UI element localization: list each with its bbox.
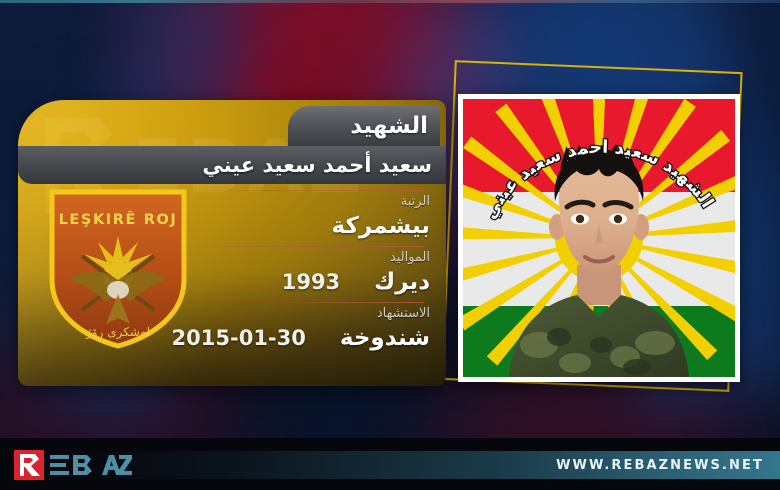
info-row-birth: المواليد ديرك 1993 bbox=[18, 246, 446, 302]
info-row-martyrdom: الاستشهاد شندوخة 2015-01-30 bbox=[18, 302, 446, 358]
info-value-line-rank: بيشمركة bbox=[18, 211, 430, 241]
soldier-portrait bbox=[505, 145, 693, 377]
info-row-rank: الرتبة بيشمركة bbox=[18, 190, 446, 246]
info-value-rank: بيشمركة bbox=[332, 211, 430, 241]
info-label-martyrdom: الاستشهاد bbox=[18, 305, 430, 323]
info-value-line-martyrdom: شندوخة 2015-01-30 bbox=[18, 323, 430, 353]
martyr-header-bar: الشهيد bbox=[288, 106, 440, 146]
info-value-line-birth: ديرك 1993 bbox=[18, 267, 430, 297]
martyr-photo: الشهيد سعيد احمد سعيد عيني bbox=[458, 94, 740, 382]
info-label-rank: الرتبة bbox=[18, 193, 430, 211]
info-value-birthplace: ديرك bbox=[374, 267, 430, 297]
rebaz-logo[interactable] bbox=[14, 450, 132, 480]
martyr-header-label: الشهيد bbox=[350, 113, 428, 139]
info-value-martyrdom-date: 2015-01-30 bbox=[172, 323, 306, 353]
row-divider bbox=[194, 302, 424, 303]
row-divider bbox=[194, 190, 424, 191]
info-value-martyrdom-place: شندوخة bbox=[340, 323, 430, 353]
martyr-info-rows: الرتبة بيشمركة المواليد ديرك 1993 الاستش… bbox=[18, 190, 446, 358]
info-value-birthyear: 1993 bbox=[282, 267, 340, 297]
photo-inner: الشهيد سعيد احمد سعيد عيني bbox=[463, 99, 735, 377]
footer-bar: WWW.REBAZNEWS.NET bbox=[0, 438, 780, 490]
top-edge-line bbox=[0, 0, 780, 3]
row-divider bbox=[194, 246, 424, 247]
martyr-name-bar: سعيد أحمد سعيد عيني bbox=[18, 146, 446, 184]
martyr-name: سعيد أحمد سعيد عيني bbox=[202, 153, 432, 177]
screenshot-root: EBAZ LEŞKIRÊ ROJ bbox=[0, 0, 780, 490]
info-label-birth: المواليد bbox=[18, 249, 430, 267]
footer-website-url[interactable]: WWW.REBAZNEWS.NET bbox=[556, 458, 764, 473]
